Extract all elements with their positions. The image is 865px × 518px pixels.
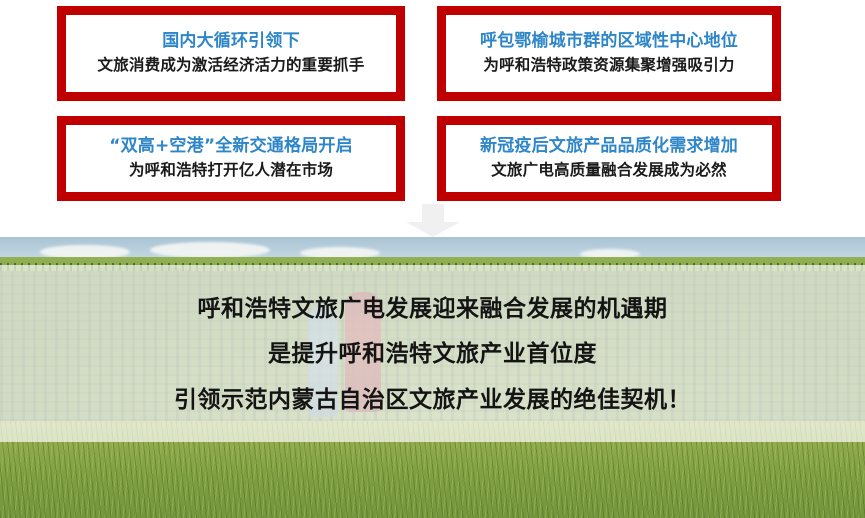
grassland-photo: 呼和浩特文旅广电发展迎来融合发展的机遇期 是提升呼和浩特文旅产业首位度 引领示范… [0, 237, 865, 518]
slide-canvas: 国内大循环引领下 文旅消费成为激活经济活力的重要抓手 呼包鄂榆城市群的区域性中心… [0, 0, 865, 518]
factor-title: 呼包鄂榆城市群的区域性中心地位 [480, 32, 738, 52]
factor-box-inner: 国内大循环引领下 文旅消费成为激活经济活力的重要抓手 [66, 15, 396, 92]
down-arrow-icon [404, 204, 462, 237]
factor-subtitle: 文旅广电高质量融合发展成为必然 [491, 162, 727, 180]
factor-subtitle: 为呼和浩特政策资源集聚增强吸引力 [483, 57, 734, 75]
factor-box-transport[interactable]: “双高+空港”全新交通格局开启 为呼和浩特打开亿人潜在市场 [57, 116, 405, 201]
factor-box-post-covid-demand[interactable]: 新冠疫后文旅产品品质化需求增加 文旅广电高质量融合发展成为必然 [437, 116, 781, 201]
factor-title: 国内大循环引领下 [162, 32, 300, 52]
photo-white-overlay [0, 265, 865, 442]
factor-box-grid: 国内大循环引领下 文旅消费成为激活经济活力的重要抓手 呼包鄂榆城市群的区域性中心… [0, 0, 865, 232]
factor-box-inner: 呼包鄂榆城市群的区域性中心地位 为呼和浩特政策资源集聚增强吸引力 [446, 15, 772, 92]
factor-title: 新冠疫后文旅产品品质化需求增加 [480, 137, 738, 157]
factor-title: “双高+空港”全新交通格局开启 [109, 137, 353, 157]
factor-subtitle: 文旅消费成为激活经济活力的重要抓手 [98, 57, 365, 75]
cloud-shape [150, 242, 270, 258]
factor-subtitle: 为呼和浩特打开亿人潜在市场 [129, 162, 333, 180]
factor-box-domestic-circulation[interactable]: 国内大循环引领下 文旅消费成为激活经济活力的重要抓手 [57, 6, 405, 101]
factor-box-inner: 新冠疫后文旅产品品质化需求增加 文旅广电高质量融合发展成为必然 [446, 125, 772, 192]
factor-box-urban-cluster[interactable]: 呼包鄂榆城市群的区域性中心地位 为呼和浩特政策资源集聚增强吸引力 [437, 6, 781, 101]
factor-box-inner: “双高+空港”全新交通格局开启 为呼和浩特打开亿人潜在市场 [66, 125, 396, 192]
